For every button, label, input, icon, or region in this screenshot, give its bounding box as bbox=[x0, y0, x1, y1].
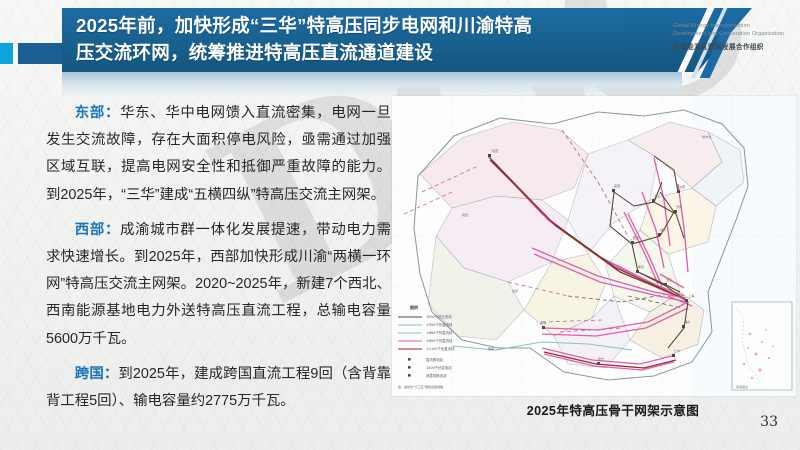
page-title: 2025年前，加快形成“三华”特高压同步电网和川渝特高 压交流环网，统筹推进特高… bbox=[76, 12, 676, 66]
svg-text:西安: 西安 bbox=[633, 235, 639, 240]
decorative-cyan-block bbox=[0, 43, 13, 64]
paragraph-west-text: 成渝城市群一体化发展提速，带动电力需求快速增长。到2025年，西部加快形成川渝“… bbox=[46, 222, 391, 347]
svg-text:郑州: 郑州 bbox=[660, 227, 666, 232]
svg-text:蒙西: 蒙西 bbox=[614, 183, 620, 188]
map-svg: 哈密蒙西西安 郑州北京济南 武汉上海福州 昆明南宁广州 重庆沈阳哈尔滨 和田拉萨… bbox=[392, 96, 796, 396]
slide-canvas: DOC 2025年前，加快形成“三华”特高压同步电网和川渝特高 压交流环网，统筹… bbox=[0, 0, 800, 450]
svg-text:1000千伏变电站: 1000千伏变电站 bbox=[426, 365, 452, 370]
svg-text:昆明: 昆明 bbox=[540, 320, 546, 325]
china-uhv-grid-map: 哈密蒙西西安 郑州北京济南 武汉上海福州 昆明南宁广州 重庆沈阳哈尔滨 和田拉萨… bbox=[392, 96, 796, 396]
svg-text:上海: 上海 bbox=[688, 293, 694, 298]
svg-text:±1100千伏直流线: ±1100千伏直流线 bbox=[426, 346, 455, 351]
body-text: 东部：华东、华中电网馈入直流密集，电网一旦发生交流故障，存在大面积停电风险，亟需… bbox=[46, 100, 391, 423]
figure-caption: 2025年特高压骨干网架示意图 bbox=[498, 400, 728, 419]
legend-title: 图例 bbox=[410, 304, 418, 310]
page-title-line2: 压交流环网，统筹推进特高压直流通道建设 bbox=[76, 39, 676, 66]
svg-text:重庆: 重庆 bbox=[638, 264, 644, 269]
paragraph-crossborder-lead: 跨国： bbox=[75, 366, 119, 382]
logo-chinese: 全球能源互联网发展合作组织 bbox=[673, 41, 798, 51]
svg-text:背靠背换流站: 背靠背换流站 bbox=[426, 373, 447, 378]
svg-text:武汉: 武汉 bbox=[666, 277, 672, 282]
paragraph-west-lead: 西部： bbox=[75, 222, 120, 238]
svg-text:哈尔滨: 哈尔滨 bbox=[702, 134, 711, 139]
south-china-sea-inset: 南海诸岛 bbox=[732, 302, 792, 390]
svg-text:±660千伏直流线: ±660千伏直流线 bbox=[426, 330, 453, 335]
page-number: 33 bbox=[760, 414, 778, 430]
svg-text:瑞丽: 瑞丽 bbox=[488, 346, 494, 351]
header-fade bbox=[62, 72, 682, 96]
svg-text:沈阳: 沈阳 bbox=[679, 184, 685, 189]
paragraph-west: 西部：成渝城市群一体化发展提速，带动电力需求快速增长。到2025年，西部加快形成… bbox=[46, 217, 391, 353]
svg-text:±500千伏直流线: ±500千伏直流线 bbox=[426, 322, 453, 327]
svg-text:和田: 和田 bbox=[462, 212, 468, 217]
svg-text:广州: 广州 bbox=[674, 348, 680, 353]
svg-text:福州: 福州 bbox=[684, 319, 690, 324]
svg-text:拉萨: 拉萨 bbox=[512, 288, 518, 293]
paragraph-east-lead: 东部： bbox=[75, 105, 120, 121]
organization-logo: Global Energy Interconnection Developmen… bbox=[673, 22, 798, 51]
paragraph-crossborder: 跨国：到2025年，建成跨国直流工程9回（含背靠背工程5回）、输电容量约2775… bbox=[46, 361, 391, 415]
svg-text:北京: 北京 bbox=[654, 193, 660, 198]
svg-text:直流换流站: 直流换流站 bbox=[426, 357, 444, 362]
page-title-line1: 2025年前，加快形成“三华”特高压同步电网和川渝特高 bbox=[76, 12, 676, 39]
paragraph-east: 东部：华东、华中电网馈入直流密集，电网一旦发生交流故障，存在大面积停电风险，亟需… bbox=[46, 100, 391, 209]
svg-text:注：虚线为“十三五”规划在建线路: 注：虚线为“十三五”规划在建线路 bbox=[398, 384, 443, 389]
svg-text:哈密: 哈密 bbox=[492, 148, 498, 153]
svg-text:南宁: 南宁 bbox=[598, 356, 604, 361]
logo-english-line1: Global Energy Interconnection bbox=[673, 22, 798, 30]
svg-text:南海诸岛: 南海诸岛 bbox=[736, 384, 748, 389]
svg-text:±800千伏直流线: ±800千伏直流线 bbox=[426, 338, 453, 343]
svg-text:济南: 济南 bbox=[676, 204, 682, 209]
logo-english-line2: Development and Cooperation Organization bbox=[673, 30, 798, 38]
decorative-navy-block bbox=[18, 43, 63, 64]
svg-text:1000千伏交流线: 1000千伏交流线 bbox=[426, 314, 452, 319]
